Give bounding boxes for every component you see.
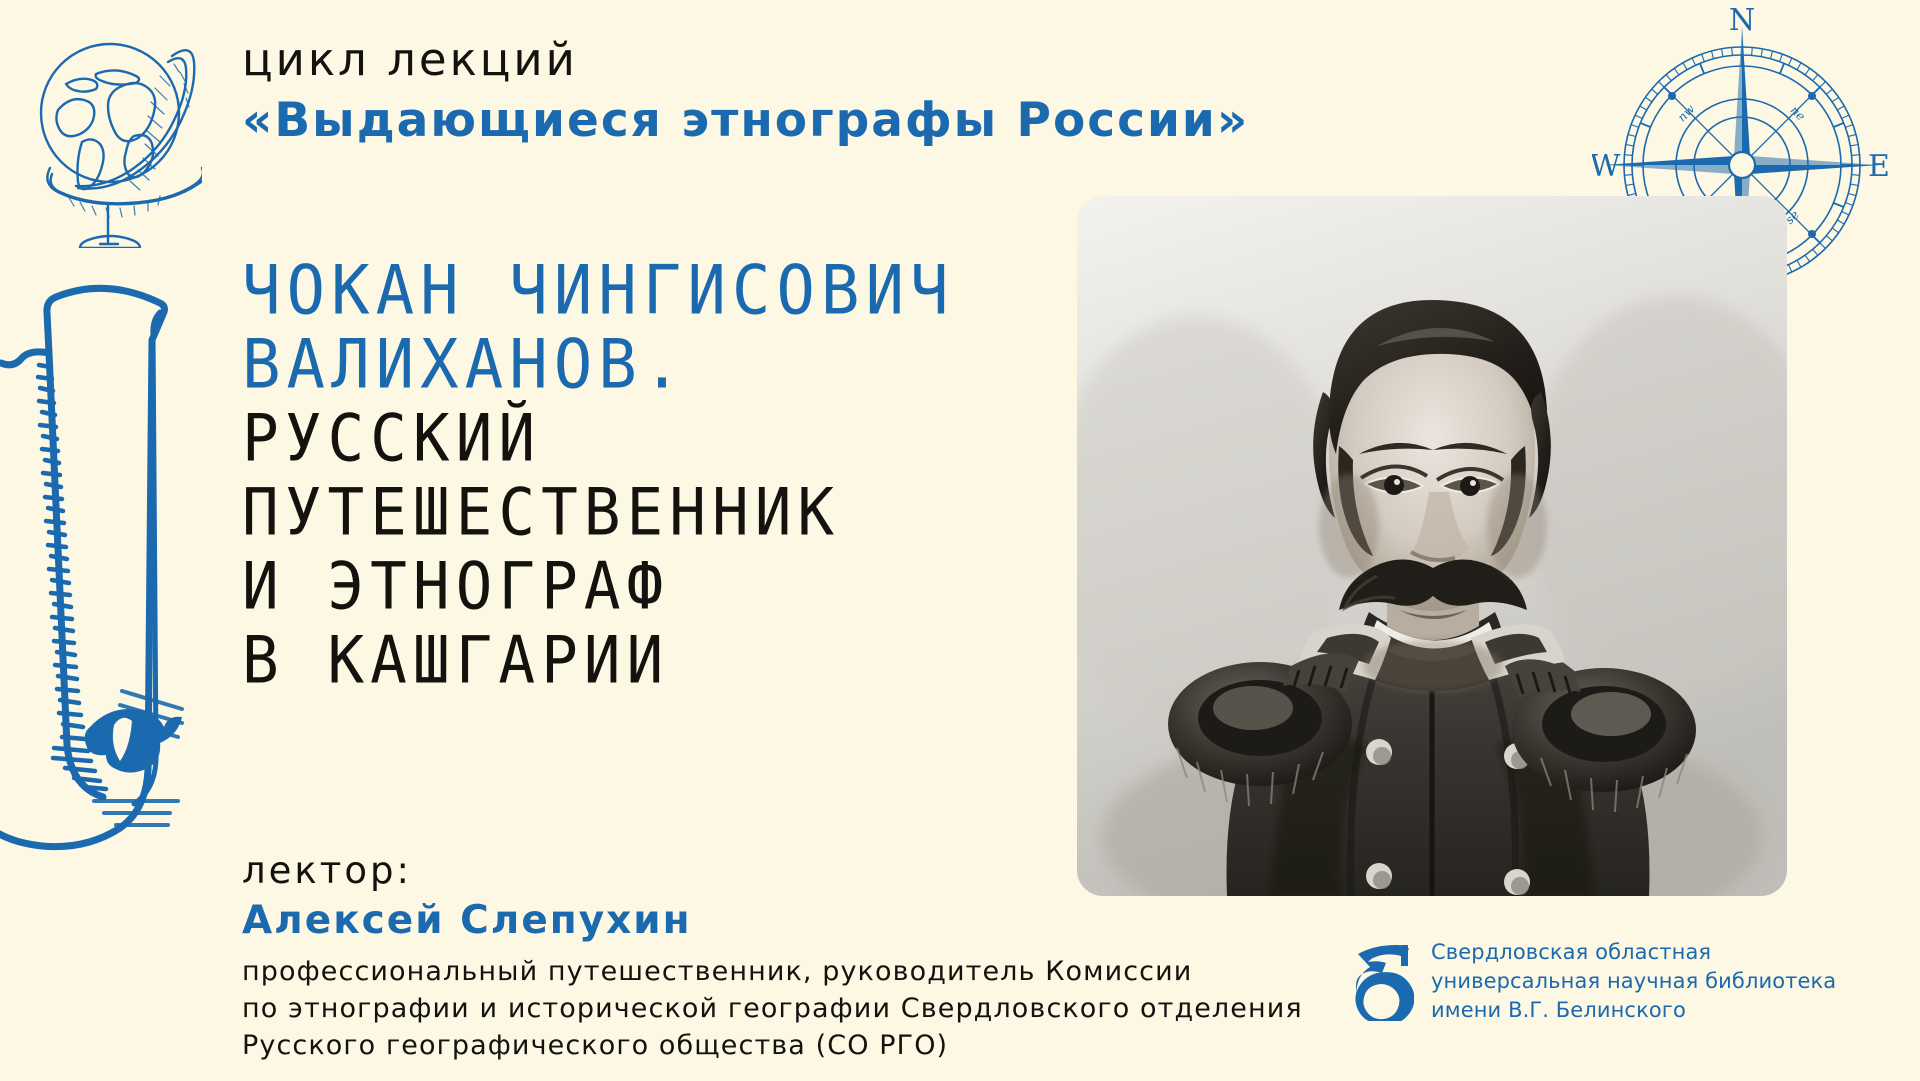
title-line-6: В КАШГАРИИ xyxy=(242,622,1072,700)
credentials-line-1: профессиональный путешественник, руковод… xyxy=(242,953,1242,990)
coastline-map-illustration xyxy=(0,255,224,865)
credentials-line-3: Русского географического общества (СО РГ… xyxy=(242,1027,1242,1064)
belinsky-library-logo-icon xyxy=(1352,943,1414,1021)
compass-label-northeast: ne xyxy=(1788,103,1808,123)
library-name-line-3: имени В.Г. Белинского xyxy=(1431,996,1836,1025)
series-name: «Выдающиеся этнографы России» xyxy=(242,96,1082,146)
title-line-5: И ЭТНОГРАФ xyxy=(242,548,1072,626)
library-name-line-2: универсальная научная библиотека xyxy=(1431,967,1836,996)
compass-label-east: E xyxy=(1868,149,1890,184)
title-line-3: РУССКИЙ xyxy=(242,400,1072,478)
library-name-line-1: Свердловская областная xyxy=(1431,938,1836,967)
page-title: ЧОКАН ЧИНГИСОВИЧ ВАЛИХАНОВ. РУССКИЙ ПУТЕ… xyxy=(242,252,1072,696)
library-name: Свердловская областная универсальная нау… xyxy=(1431,938,1836,1025)
lecturer-credentials: профессиональный путешественник, руковод… xyxy=(242,953,1242,1064)
title-line-2: ВАЛИХАНОВ. xyxy=(242,326,1072,404)
title-line-1: ЧОКАН ЧИНГИСОВИЧ xyxy=(242,252,1072,330)
globe-icon xyxy=(22,18,202,248)
compass-label-north: N xyxy=(1729,8,1755,38)
library-logo: Свердловская областная универсальная нау… xyxy=(1352,938,1836,1025)
portrait-frame xyxy=(1077,196,1787,896)
header-block: цикл лекций «Выдающиеся этнографы России… xyxy=(242,36,1082,146)
compass-label-west: W xyxy=(1592,149,1621,184)
series-kicker: цикл лекций xyxy=(242,36,1082,84)
title-line-4: ПУТЕШЕСТВЕННИК xyxy=(242,474,1072,552)
poster-canvas: N E S W nw ne sw se цикл лекций «Выдающи… xyxy=(0,0,1920,1081)
portrait-of-valikhanov xyxy=(1077,196,1787,896)
compass-label-northwest: nw xyxy=(1675,101,1698,124)
credentials-line-2: по этнографии и исторической географии С… xyxy=(242,990,1242,1027)
lecturer-name: Алексей Слепухин xyxy=(242,899,1242,944)
